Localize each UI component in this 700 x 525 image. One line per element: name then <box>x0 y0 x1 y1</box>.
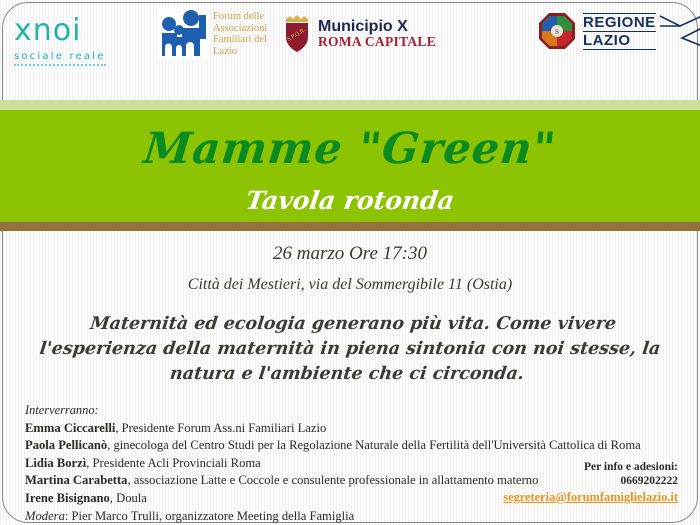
svg-text:S: S <box>555 28 559 36</box>
moderator-text: : Pier Marco Trulli, organizzatore Meeti… <box>65 509 354 523</box>
logo-regione-lazio: S REGIONE LAZIO <box>538 12 700 50</box>
speaker-name: Paola Pellicanò <box>25 438 107 452</box>
speaker-role: , Doula <box>110 491 147 505</box>
logo-xnoi-tagline: sociale reale <box>14 51 106 66</box>
family-figures-icon <box>158 9 210 59</box>
speaker-role: , ginecologa del Centro Studi per la Reg… <box>107 438 641 452</box>
speaker-item: Emma Ciccarelli, Presidente Forum Ass.ni… <box>25 420 625 438</box>
logo-regione-text: REGIONE LAZIO <box>583 13 656 50</box>
logo-municipio-x: S.P.Q.R. Municipio X ROMA CAPITALE <box>282 14 436 54</box>
logo-regione-line-1: REGIONE <box>583 13 656 30</box>
speaker-role: , Presidente Forum Ass.ni Familiari Lazi… <box>115 421 326 435</box>
logo-municipio-line-2: ROMA CAPITALE <box>318 35 436 49</box>
event-venue: Città dei Mestieri, via del Sommergibile… <box>0 276 700 294</box>
logo-forum-associazioni: Forum delle Associazioni Familiari del L… <box>158 9 267 59</box>
event-description: Maternità ed ecologia generano più vita.… <box>31 312 668 387</box>
speaker-name: Emma Ciccarelli <box>25 421 115 435</box>
logo-forum-line-2: Associazioni <box>213 23 267 35</box>
logo-forum-line-1: Forum delle <box>213 11 267 23</box>
moderator-row: Modera: Pier Marco Trulli, organizzatore… <box>25 508 625 525</box>
banner-top-accent <box>0 100 700 110</box>
poster-title: Mamme "Green" <box>0 124 700 174</box>
poster-page: xnoi sociale reale <box>0 0 700 525</box>
regione-lazio-chevron-icon <box>658 14 700 48</box>
roma-capitale-shield-icon: S.P.Q.R. <box>282 14 312 54</box>
speaker-name: Martina Carabetta <box>25 473 127 487</box>
contact-title: Per info e adesioni: <box>503 461 678 473</box>
contact-email-link[interactable]: segreteria@forumfamiglielazio.it <box>503 490 678 505</box>
logo-municipio-line-1: Municipio X <box>318 19 436 36</box>
speaker-item: Paola Pellicanò, ginecologa del Centro S… <box>25 437 625 455</box>
logo-xnoi-wordmark: xnoi <box>14 16 106 46</box>
logo-regione-line-2: LAZIO <box>583 31 656 50</box>
speaker-role: , associazione Latte e Coccole e consule… <box>127 473 538 487</box>
logo-forum-line-3: Familiari del <box>213 34 267 46</box>
sponsor-logo-header: xnoi sociale reale <box>0 0 700 92</box>
regione-lazio-emblem-icon: S <box>538 12 576 50</box>
logo-forum-line-4: Lazio <box>213 46 267 58</box>
moderator-label: Modera <box>25 509 65 523</box>
poster-subtitle: Tavola rotonda <box>0 186 700 215</box>
speaker-name: Lidia Borzì <box>25 456 86 470</box>
contact-block: Per info e adesioni: 0669202222 segreter… <box>503 461 678 506</box>
banner-bottom-rule <box>0 222 700 231</box>
logo-xnoi: xnoi sociale reale <box>14 16 106 66</box>
speaker-name: Irene Bisignano <box>25 491 110 505</box>
logo-municipio-text: Municipio X ROMA CAPITALE <box>318 19 436 50</box>
event-datetime: 26 marzo Ore 17:30 <box>0 243 700 265</box>
speakers-heading: Interverranno: <box>25 402 625 420</box>
speaker-role: , Presidente Acli Provinciali Roma <box>86 456 261 470</box>
logo-forum-text: Forum delle Associazioni Familiari del L… <box>213 9 267 57</box>
contact-phone: 0669202222 <box>503 475 678 487</box>
